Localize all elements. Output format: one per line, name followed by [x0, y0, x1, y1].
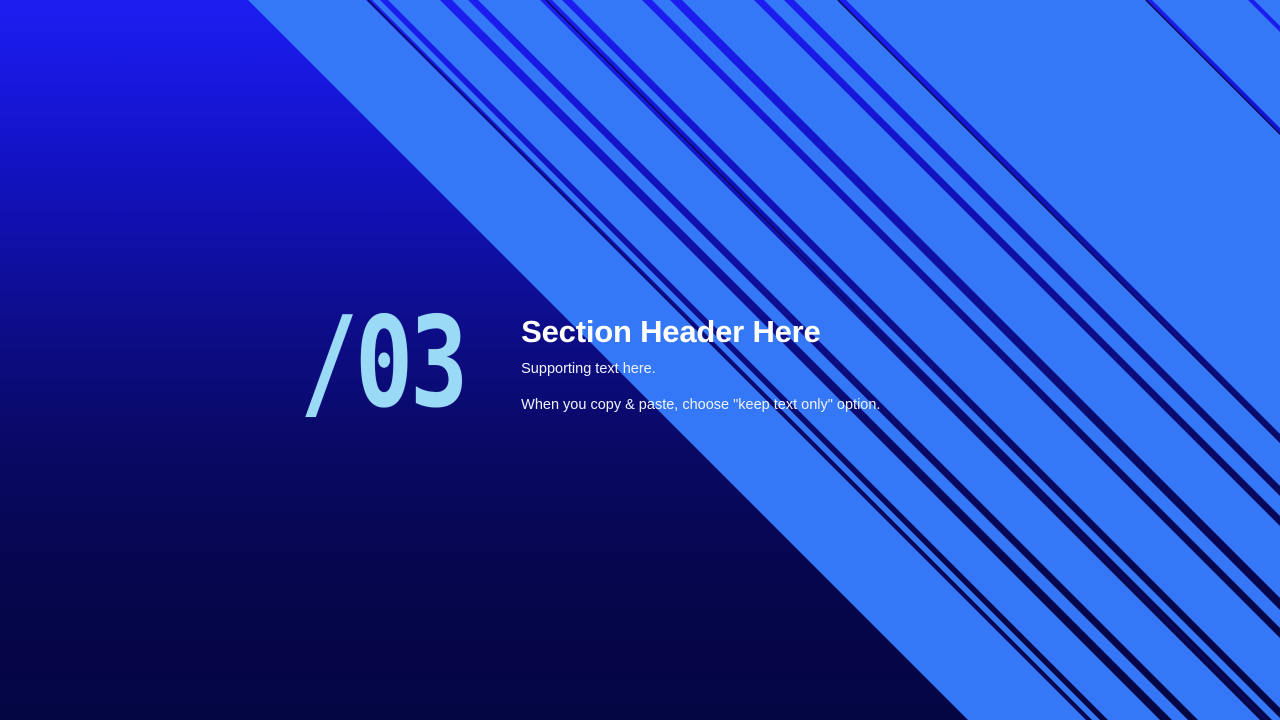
slide-content: /03 Section Header Here Supporting text … [0, 0, 1280, 720]
section-text-block: Section Header Here Supporting text here… [521, 300, 880, 416]
diagonal-stripe [846, 0, 1280, 655]
stripe-hairline [1146, 0, 1280, 720]
supporting-text-secondary: When you copy & paste, choose "keep text… [521, 396, 880, 416]
section-intro-row: /03 Section Header Here Supporting text … [300, 300, 880, 416]
diagonal-stripe [1152, 0, 1280, 680]
supporting-text-primary: Supporting text here. [521, 360, 880, 380]
section-number: /03 [300, 306, 465, 419]
page-title: Section Header Here [521, 314, 880, 350]
diagonal-stripe [1254, 0, 1280, 705]
slide-canvas: /03 Section Header Here Supporting text … [0, 0, 1280, 720]
stripe-hairline [838, 0, 1280, 720]
